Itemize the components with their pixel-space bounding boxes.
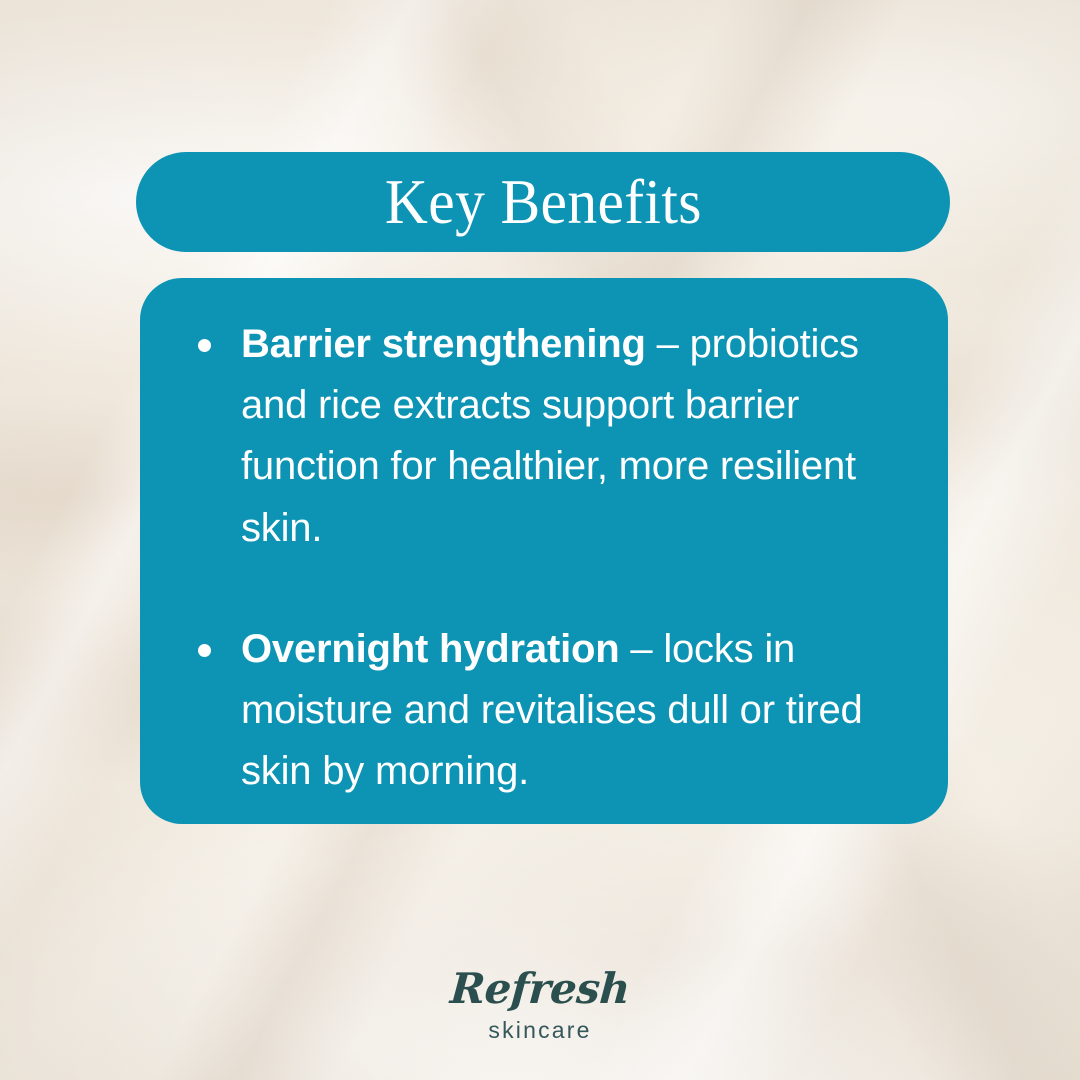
benefits-card: Barrier strengthening – probiotics and r… <box>140 278 948 824</box>
social-post-canvas: Key Benefits Barrier strengthening – pro… <box>0 0 1080 1080</box>
brand-tagline: skincare <box>0 1019 1080 1042</box>
bullet-dot-icon <box>198 339 211 352</box>
list-item: Barrier strengthening – probiotics and r… <box>188 314 896 559</box>
benefit-lead-label: Barrier strengthening <box>241 322 646 366</box>
benefits-list: Barrier strengthening – probiotics and r… <box>188 314 896 802</box>
benefit-separator: – <box>646 322 690 366</box>
benefit-separator: – <box>619 627 663 671</box>
benefit-lead-label: Overnight hydration <box>241 627 619 671</box>
title-pill: Key Benefits <box>136 152 950 252</box>
brand-logo: Refresh skincare <box>0 968 1080 1042</box>
brand-name: Refresh <box>0 968 1080 1010</box>
bullet-dot-icon <box>198 644 211 657</box>
page-title: Key Benefits <box>385 170 702 234</box>
list-item: Overnight hydration – locks in moisture … <box>188 619 896 803</box>
